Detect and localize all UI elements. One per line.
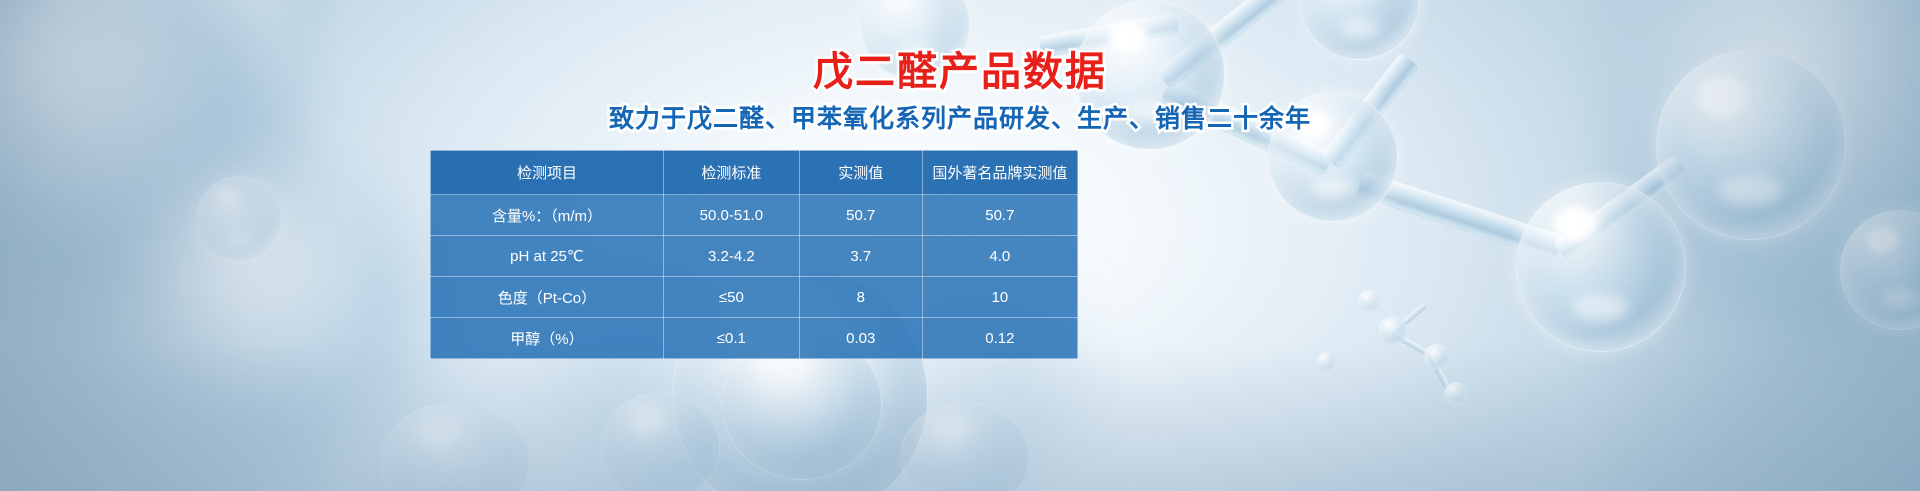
cell-foreign: 10: [922, 277, 1077, 318]
spec-table: 检测项目 检测标准 实测值 国外著名品牌实测值 含量%：（m/m） 50.0-5…: [430, 150, 1078, 359]
table-row: 甲醇（%） ≤0.1 0.03 0.12: [431, 318, 1078, 359]
cell-foreign: 50.7: [922, 195, 1077, 236]
table-header-standard: 检测标准: [663, 151, 799, 195]
cell-standard: 3.2-4.2: [663, 236, 799, 277]
product-data-banner: 戊二醛产品数据 致力于戊二醛、甲苯氧化系列产品研发、生产、销售二十余年 检测项目…: [0, 0, 1920, 491]
table-header-item: 检测项目: [431, 151, 664, 195]
table-row: pH at 25℃ 3.2-4.2 3.7 4.0: [431, 236, 1078, 277]
page-title: 戊二醛产品数据: [0, 50, 1920, 94]
cell-measured: 8: [799, 277, 922, 318]
cell-measured: 0.03: [799, 318, 922, 359]
cell-item: 甲醇（%）: [431, 318, 664, 359]
banner-heading-group: 戊二醛产品数据 致力于戊二醛、甲苯氧化系列产品研发、生产、销售二十余年: [0, 50, 1920, 134]
cell-measured: 3.7: [799, 236, 922, 277]
table-row: 色度（Pt-Co） ≤50 8 10: [431, 277, 1078, 318]
cell-measured: 50.7: [799, 195, 922, 236]
table-header-measured: 实测值: [799, 151, 922, 195]
cell-item: pH at 25℃: [431, 236, 664, 277]
cell-standard: ≤0.1: [663, 318, 799, 359]
table-header-foreign: 国外著名品牌实测值: [922, 151, 1077, 195]
table-header-row: 检测项目 检测标准 实测值 国外著名品牌实测值: [431, 151, 1078, 195]
cell-standard: ≤50: [663, 277, 799, 318]
cell-item: 色度（Pt-Co）: [431, 277, 664, 318]
cell-standard: 50.0-51.0: [663, 195, 799, 236]
page-subtitle: 致力于戊二醛、甲苯氧化系列产品研发、生产、销售二十余年: [0, 104, 1920, 134]
spec-table-container: 检测项目 检测标准 实测值 国外著名品牌实测值 含量%：（m/m） 50.0-5…: [430, 150, 1078, 359]
cell-item: 含量%：（m/m）: [431, 195, 664, 236]
cell-foreign: 0.12: [922, 318, 1077, 359]
table-row: 含量%：（m/m） 50.0-51.0 50.7 50.7: [431, 195, 1078, 236]
cell-foreign: 4.0: [922, 236, 1077, 277]
